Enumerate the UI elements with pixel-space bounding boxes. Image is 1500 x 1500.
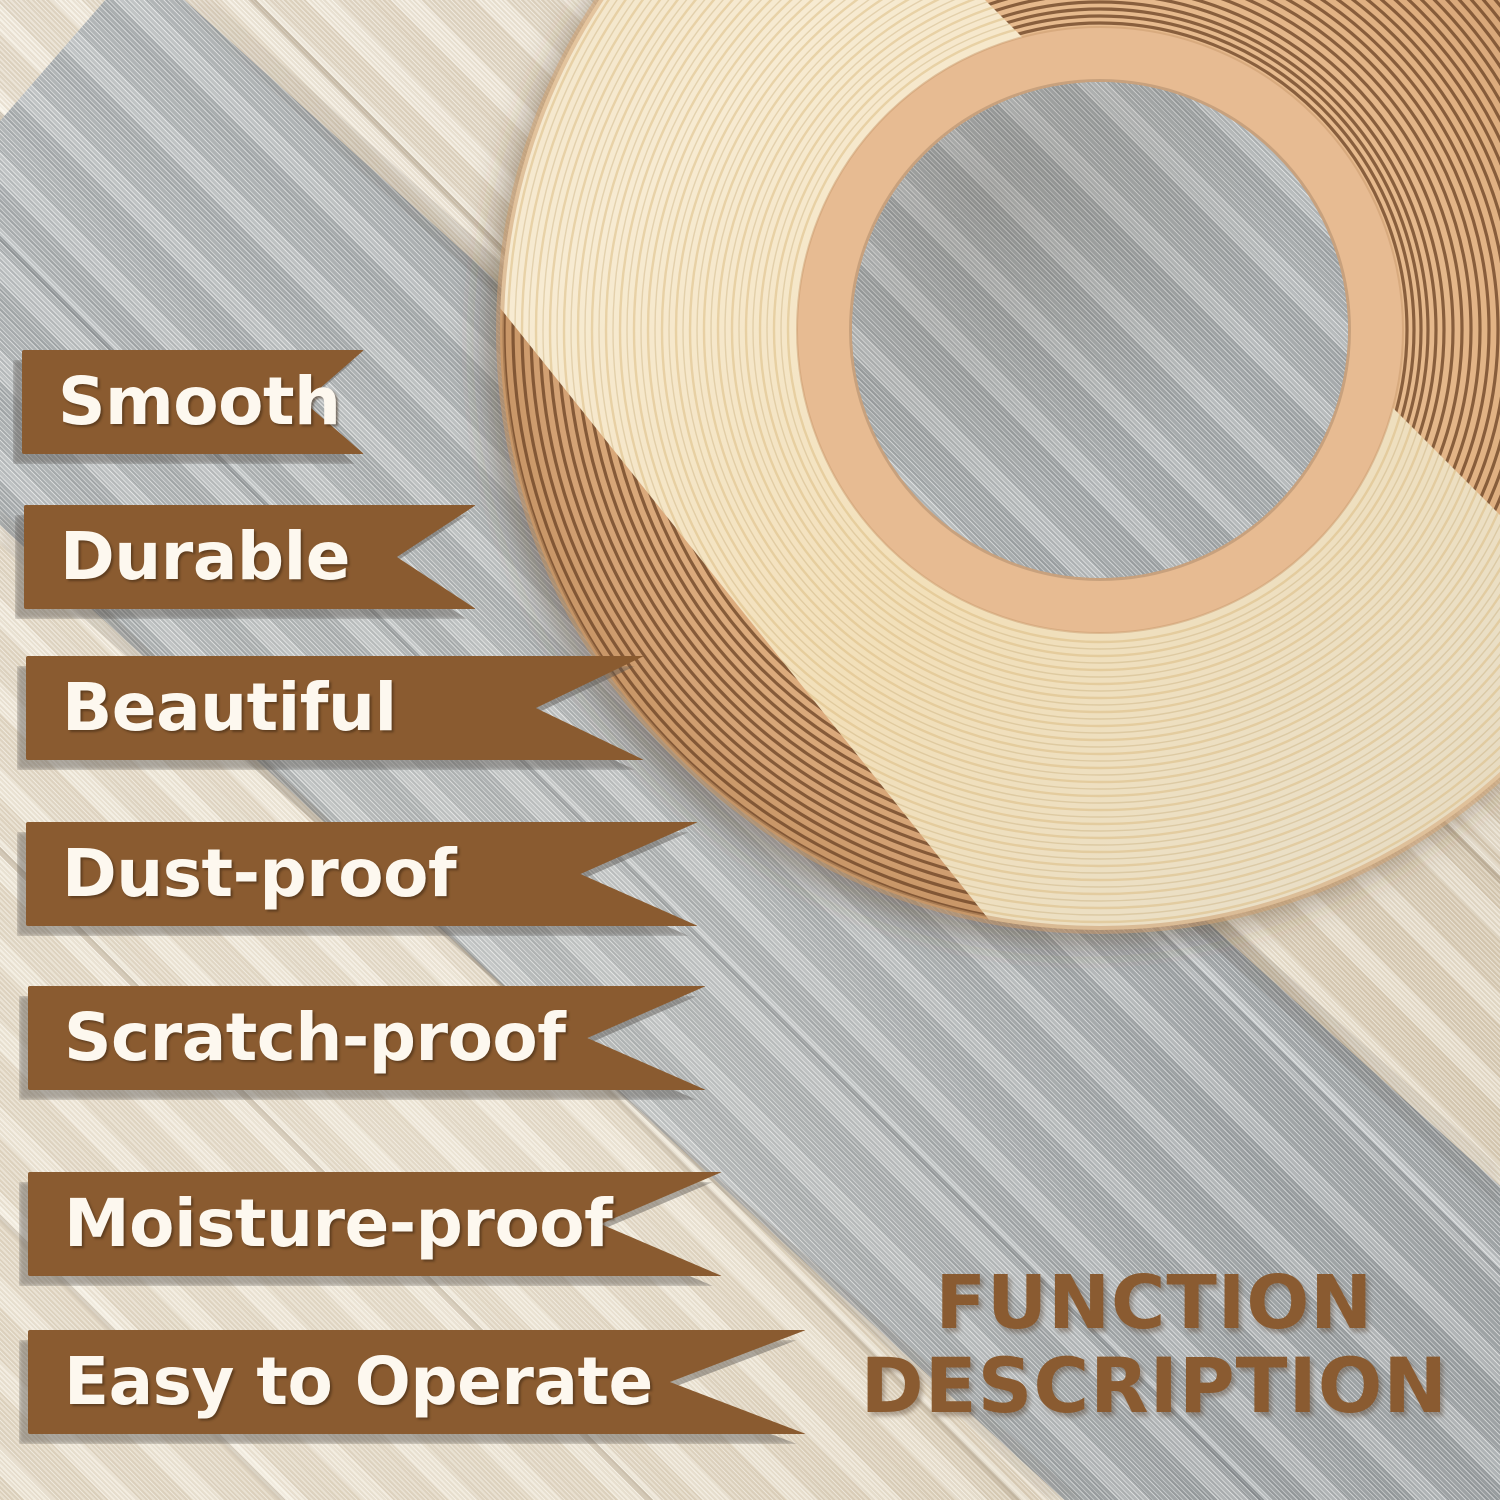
product-feature-graphic: Smooth Durable Beautiful Dust-proof Scra… <box>0 0 1500 1500</box>
feature-label: Scratch-proof <box>28 1005 566 1071</box>
feature-banner[interactable]: Easy to Operate <box>28 1330 806 1434</box>
heading-line-function: FUNCTION <box>861 1263 1448 1344</box>
function-description-heading: FUNCTION DESCRIPTION <box>861 1263 1448 1428</box>
feature-banner[interactable]: Dust-proof <box>26 822 698 926</box>
feature-banner[interactable]: Smooth <box>22 350 364 454</box>
heading-line-description: DESCRIPTION <box>861 1344 1448 1428</box>
feature-label: Durable <box>24 524 350 590</box>
feature-banner[interactable]: Beautiful <box>26 656 644 760</box>
feature-label: Moisture-proof <box>28 1191 612 1257</box>
feature-label: Dust-proof <box>26 841 456 907</box>
feature-banner[interactable]: Durable <box>24 505 476 609</box>
feature-banner[interactable]: Scratch-proof <box>28 986 706 1090</box>
feature-banner[interactable]: Moisture-proof <box>28 1172 722 1276</box>
feature-label: Beautiful <box>26 675 397 741</box>
feature-label: Smooth <box>22 369 341 435</box>
feature-label: Easy to Operate <box>28 1349 653 1415</box>
